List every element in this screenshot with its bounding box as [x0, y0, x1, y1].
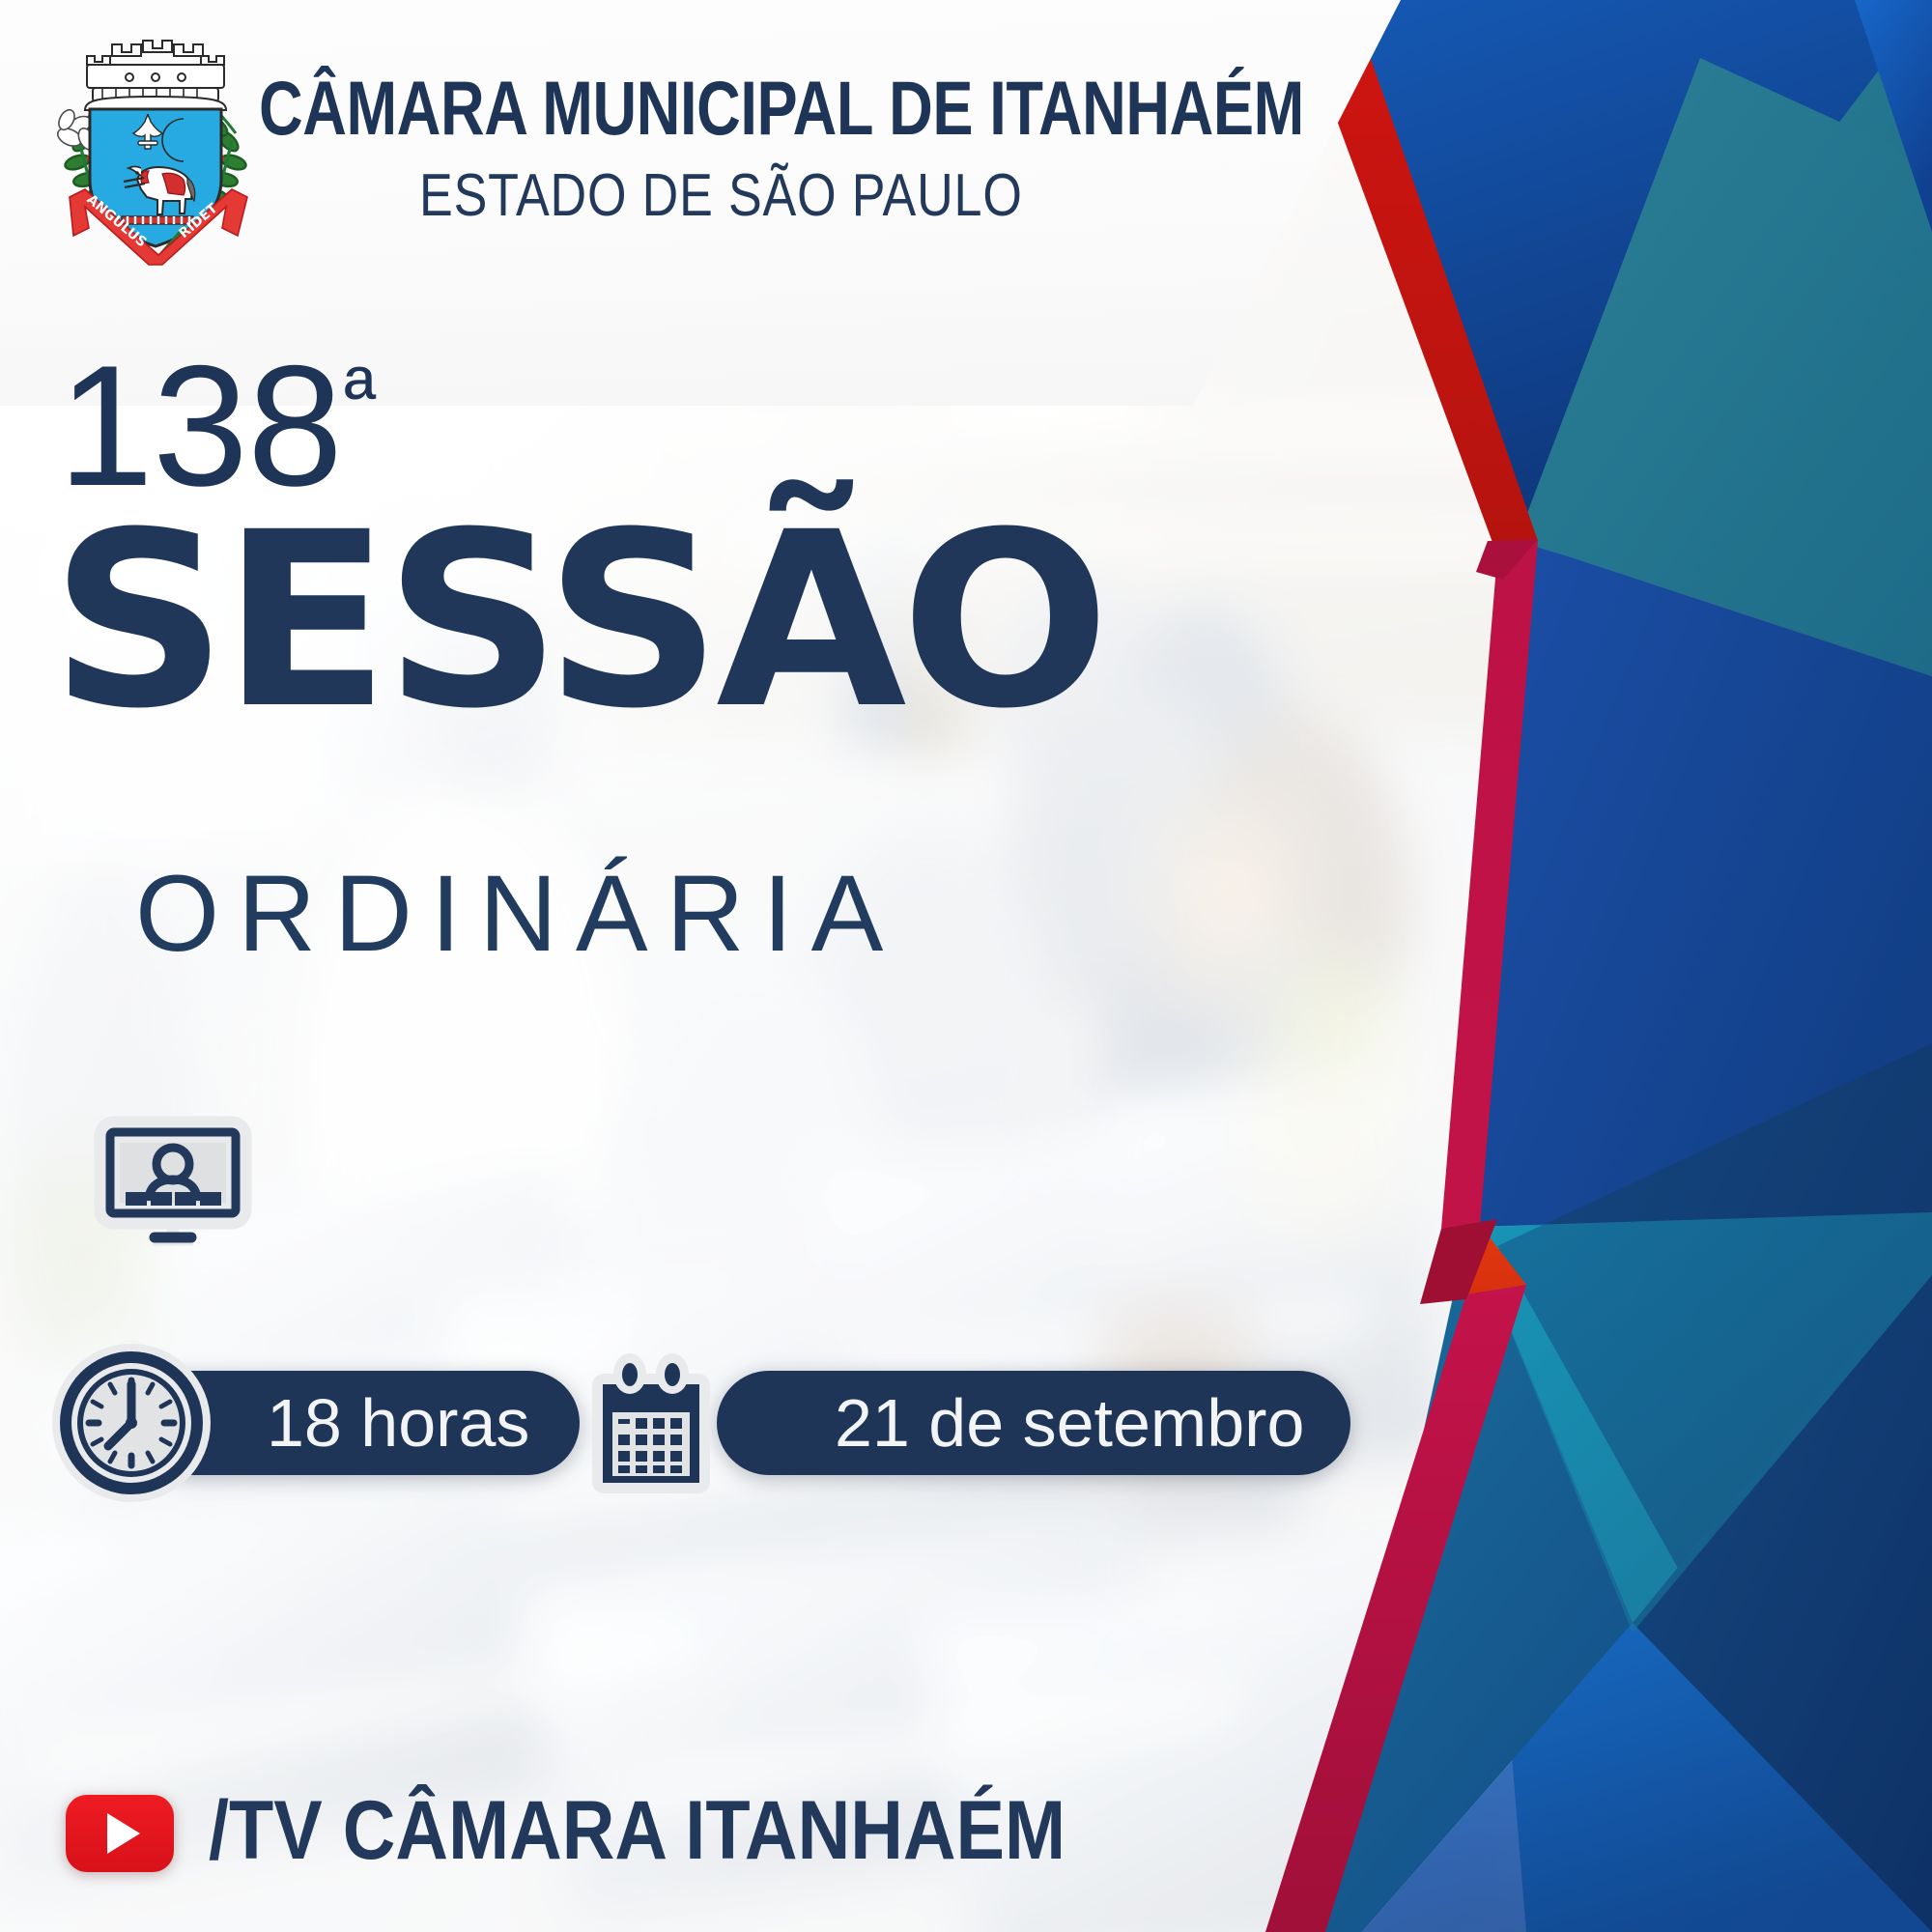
- youtube-channel-handle[interactable]: /TV CÂMARA ITANHAÉM: [209, 1789, 1065, 1872]
- session-number-ordinal: ª: [344, 349, 375, 445]
- session-kind: ORDINÁRIA: [135, 860, 901, 968]
- session-date-pill: 21 de setembro: [717, 1371, 1350, 1475]
- session-word: SESSÃO: [50, 500, 1104, 742]
- page-subtitle: ESTADO DE SÃO PAULO: [419, 166, 1023, 226]
- presentation-monitor-icon: [93, 1116, 253, 1253]
- youtube-play-icon[interactable]: [66, 1795, 174, 1872]
- calendar-icon: [583, 1352, 719, 1499]
- itanhaem-coat-of-arms-icon: ANGULUS RIDET: [41, 17, 270, 267]
- session-date-label: 21 de setembro: [835, 1389, 1304, 1457]
- session-time-label: 18 horas: [267, 1389, 529, 1457]
- poster-canvas: ANGULUS RIDET CÂMARA MUNICIPAL DE ITANHA…: [0, 0, 1932, 1932]
- page-title: CÂMARA MUNICIPAL DE ITANHAÉM: [259, 70, 1304, 146]
- clock-icon: [50, 1342, 213, 1504]
- geometric-decoration: [1179, 0, 1932, 1932]
